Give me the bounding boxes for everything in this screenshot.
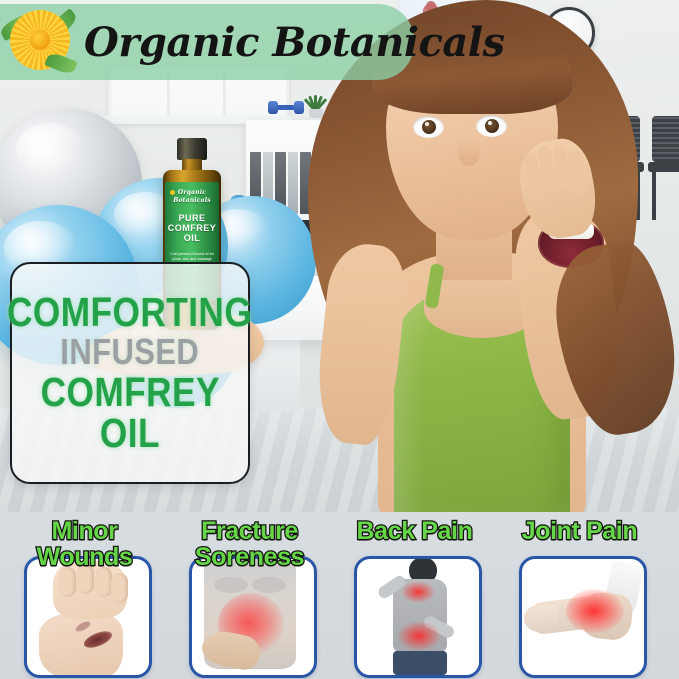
benefit-label-line-1: Minor xyxy=(2,518,167,544)
fingers xyxy=(523,604,559,633)
benefit-item-back-pain: Back Pain xyxy=(332,512,497,679)
pain-highlight-neck xyxy=(401,581,435,603)
model-iris xyxy=(485,119,499,133)
model-eye-right xyxy=(476,115,507,137)
benefit-thumbnail xyxy=(519,556,647,678)
brand-banner: Organic Botanicals xyxy=(0,4,414,80)
label-flower-icon xyxy=(170,190,175,195)
finger xyxy=(95,567,112,597)
pain-highlight-lower-back xyxy=(397,621,441,651)
chest-shading xyxy=(214,577,248,593)
finger xyxy=(567,149,588,195)
flower-center xyxy=(30,30,50,50)
benefit-thumbnail xyxy=(354,556,482,678)
brand-name: Organic Botanicals xyxy=(84,19,505,66)
chest-shading xyxy=(252,577,286,593)
model-nose xyxy=(458,140,480,166)
finger xyxy=(111,573,128,603)
benefit-thumbnail xyxy=(189,556,317,678)
finger xyxy=(77,564,94,594)
benefit-item-fracture-soreness: Fracture Soreness xyxy=(167,512,332,679)
headline-line-1: COMFORTING xyxy=(7,293,252,332)
benefit-thumbnail xyxy=(24,556,152,678)
bottle-cap xyxy=(177,138,207,160)
benefit-label-line-1: Joint Pain xyxy=(497,518,662,544)
figure-jeans xyxy=(393,651,447,675)
finger xyxy=(59,567,76,597)
ball-highlight xyxy=(16,123,85,174)
flower-leaf xyxy=(44,51,77,76)
calendula-flower-icon xyxy=(2,4,78,80)
hand-wound-photo xyxy=(35,561,139,675)
benefit-label: Back Pain xyxy=(332,518,497,544)
headline-line-2: INFUSED xyxy=(61,335,200,370)
back-pain-photo xyxy=(375,559,467,675)
benefit-label: Joint Pain xyxy=(497,518,662,544)
benefit-label-line-1: Back Pain xyxy=(332,518,497,544)
benefit-item-joint-pain: Joint Pain xyxy=(497,512,662,679)
model-iris xyxy=(422,120,436,134)
benefits-strip: Minor Wounds Fracture Soreness xyxy=(0,512,679,679)
wrist-joint-pain-photo xyxy=(524,575,642,659)
product-advertisement-image: Organic Botanicals PURE COMFREY OIL Cold… xyxy=(0,0,679,679)
pain-highlight xyxy=(566,589,624,633)
headline-line-4: OIL xyxy=(100,414,160,453)
label-product-name: PURE COMFREY OIL xyxy=(165,213,219,243)
abdomen-soreness-photo xyxy=(192,559,308,669)
headline-box: COMFORTING INFUSED COMFREY OIL xyxy=(10,262,250,484)
headline-line-3: COMFREY xyxy=(40,373,219,412)
benefit-label-line-1: Fracture xyxy=(167,518,332,544)
benefit-item-minor-wounds: Minor Wounds xyxy=(2,512,167,679)
model-eye-left xyxy=(413,116,444,138)
